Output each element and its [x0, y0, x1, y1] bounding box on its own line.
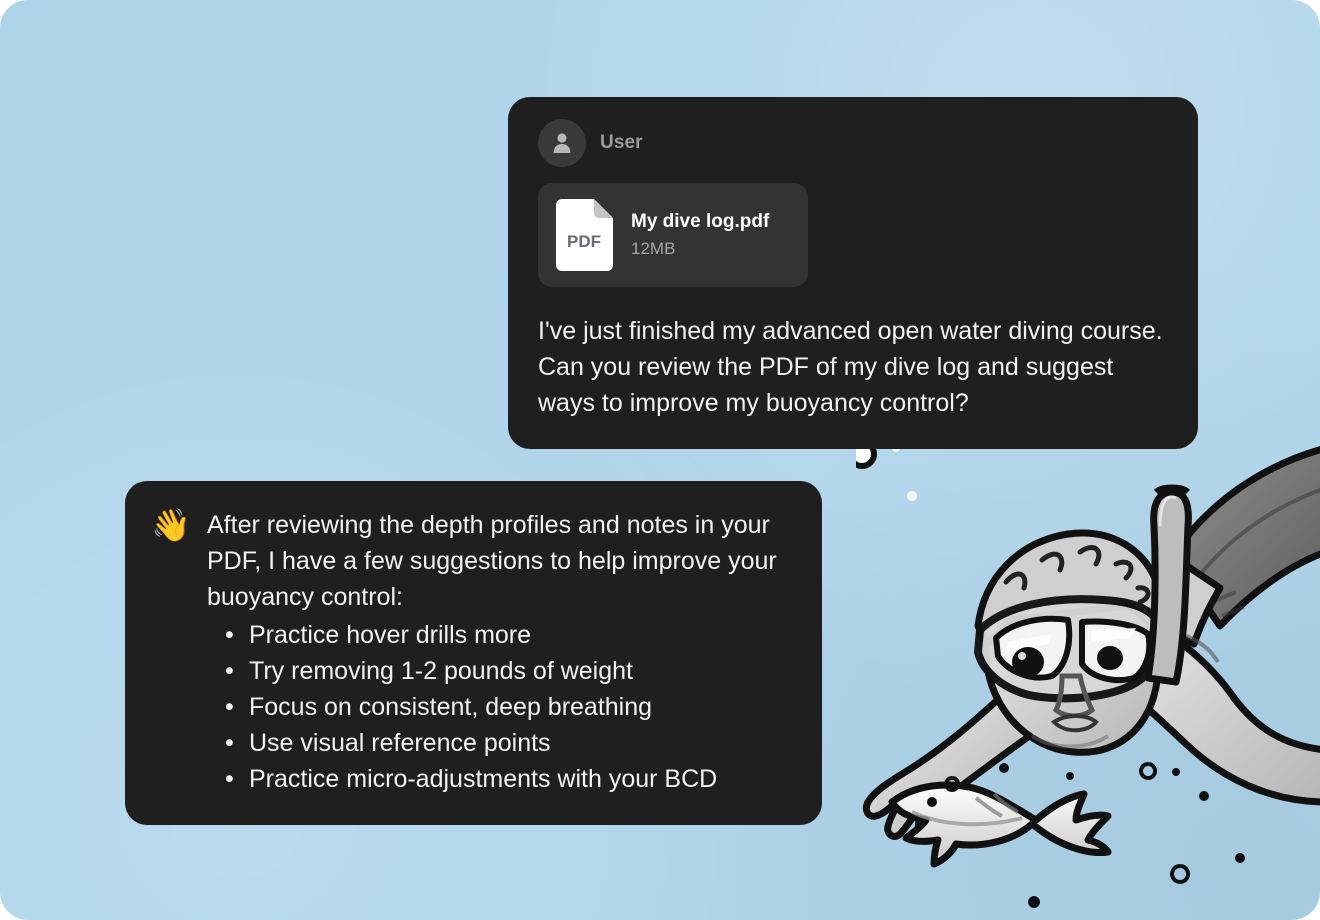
fish-illustration: [892, 785, 1108, 864]
waving-hand-emoji: 👋: [151, 507, 193, 543]
attachment-file-name: My dive log.pdf: [631, 211, 769, 233]
suggestion-list: Practice hover drills more Try removing …: [207, 617, 792, 797]
list-item: Use visual reference points: [207, 725, 792, 761]
person-avatar-icon: [538, 119, 586, 167]
scene-canvas: User PDF My dive log.pdf 12MB I've just …: [0, 0, 1320, 920]
user-message-header: User: [538, 119, 1168, 167]
assistant-message-intro: After reviewing the depth profiles and n…: [207, 507, 792, 615]
user-message-bubble: User PDF My dive log.pdf 12MB I've just …: [508, 97, 1198, 449]
diver-torso: [1108, 618, 1320, 802]
pdf-file-icon: PDF: [556, 199, 613, 271]
message-author-name: User: [600, 132, 643, 154]
list-item: Practice micro-adjustments with your BCD: [207, 761, 792, 797]
diver-head: [978, 533, 1161, 752]
snorkel: [1148, 488, 1188, 683]
wetsuit-sleeve: [1140, 448, 1320, 644]
attachment-file-size: 12MB: [631, 239, 769, 259]
user-message-text: I've just finished my advanced open wate…: [538, 313, 1168, 421]
pdf-icon-label: PDF: [567, 232, 601, 251]
list-item: Focus on consistent, deep breathing: [207, 689, 792, 725]
diver-arm: [866, 692, 1038, 838]
list-item: Practice hover drills more: [207, 617, 792, 653]
list-item: Try removing 1-2 pounds of weight: [207, 653, 792, 689]
pdf-attachment-card[interactable]: PDF My dive log.pdf 12MB: [538, 183, 808, 287]
assistant-message-bubble: 👋 After reviewing the depth profiles and…: [125, 481, 822, 825]
bubbles: [856, 442, 1245, 908]
snorkeler-diver-illustration: [856, 430, 1320, 920]
